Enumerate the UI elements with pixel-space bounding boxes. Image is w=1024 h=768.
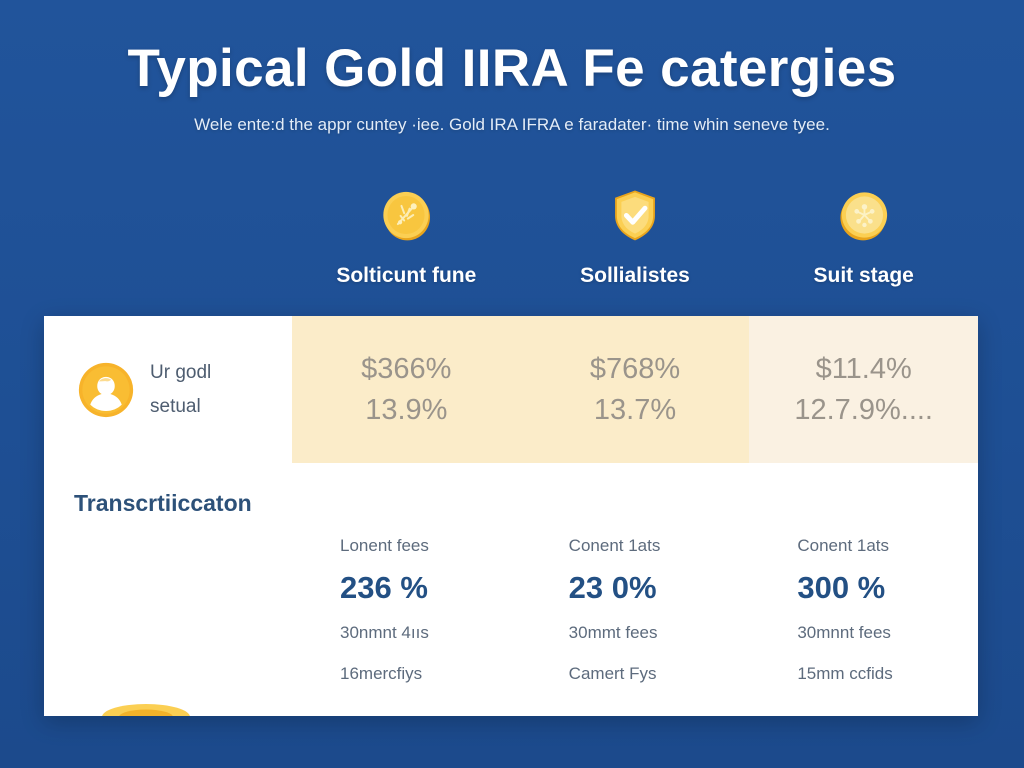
column-header-row: Solticunt fune Sollialistes [292,186,978,289]
infographic-poster: Typical Gold IIRA Fe catergies Wele ente… [0,0,1024,768]
section-title: Transcrtiiccaton [74,489,252,517]
cell-value: 23 0% [569,570,657,606]
cell-value: 236 % [340,570,428,606]
cell-value: 300 % [797,570,885,606]
cell-secondary-value: 13.7% [594,393,676,427]
gold-coin-emblem-icon [835,186,893,244]
page-title: Typical Gold IIRA Fe catergies [0,38,1024,100]
cell-secondary-value: 12.7.9%.... [794,393,933,427]
cell-note-secondary: 15mm ccfids [797,663,892,685]
table-cell-suit-stage: $11.4% 12.7.9%.... [749,316,978,463]
gold-coin-icon [377,186,435,244]
bottom-cell-row: Lonent fees 236 % 30nmnt 4ııs 16mercfiys… [292,535,978,685]
column-header-label: Solticunt fune [336,263,476,289]
gold-coin-stack-icon [88,698,234,716]
column-header-solticunt-fune: Solticunt fune [292,186,521,289]
cell-note: 30nmnt 4ııs [340,622,429,644]
cell-caption: Conent 1ats [569,535,661,557]
cell-caption: Conent 1ats [797,535,889,557]
row-label-cell: Ur godl setual [44,316,292,463]
gold-coin-profile-icon [78,362,134,418]
table-cell-sollialistes: $768% 13.7% [521,316,750,463]
column-header-sollialistes: Sollialistes [521,186,750,289]
bottom-cell-sollialistes: Conent 1ats 23 0% 30mmt fees Camert Fys [521,535,750,685]
column-header-label: Sollialistes [580,263,690,289]
table-row-transcrtiiccaton: Transcrtiiccaton [44,463,978,716]
table-row-ur-godl: Ur godl setual $366% 13.9% $768% 13.7% $… [44,316,978,463]
cell-caption: Lonent fees [340,535,429,557]
cell-note-secondary: 16mercfiys [340,663,422,685]
cell-note: 30mnnt fees [797,622,891,644]
column-header-label: Suit stage [814,263,914,289]
poster-header: Typical Gold IIRA Fe catergies Wele ente… [0,38,1024,136]
cell-note: 30mmt fees [569,622,658,644]
page-subtitle: Wele ente:d the appr cuntey ·iee. Gold I… [0,114,1024,136]
cell-secondary-value: 13.9% [365,393,447,427]
gold-shield-check-icon [606,186,664,244]
cell-primary-value: $11.4% [816,352,912,386]
table-cell-solticunt-fune: $366% 13.9% [292,316,521,463]
cell-note-secondary: Camert Fys [569,663,657,685]
cell-primary-value: $366% [361,352,451,386]
row-label-line2: setual [150,397,211,417]
bottom-cell-solticunt-fune: Lonent fees 236 % 30nmnt 4ııs 16mercfiys [292,535,521,685]
row-label-line1: Ur godl [150,363,211,383]
column-header-suit-stage: Suit stage [749,186,978,289]
row-label-text: Ur godl setual [150,363,211,417]
bottom-cell-suit-stage: Conent 1ats 300 % 30mnnt fees 15mm ccfid… [749,535,978,685]
cell-primary-value: $768% [590,352,680,386]
fee-comparison-card: Ur godl setual $366% 13.9% $768% 13.7% $… [44,316,978,716]
